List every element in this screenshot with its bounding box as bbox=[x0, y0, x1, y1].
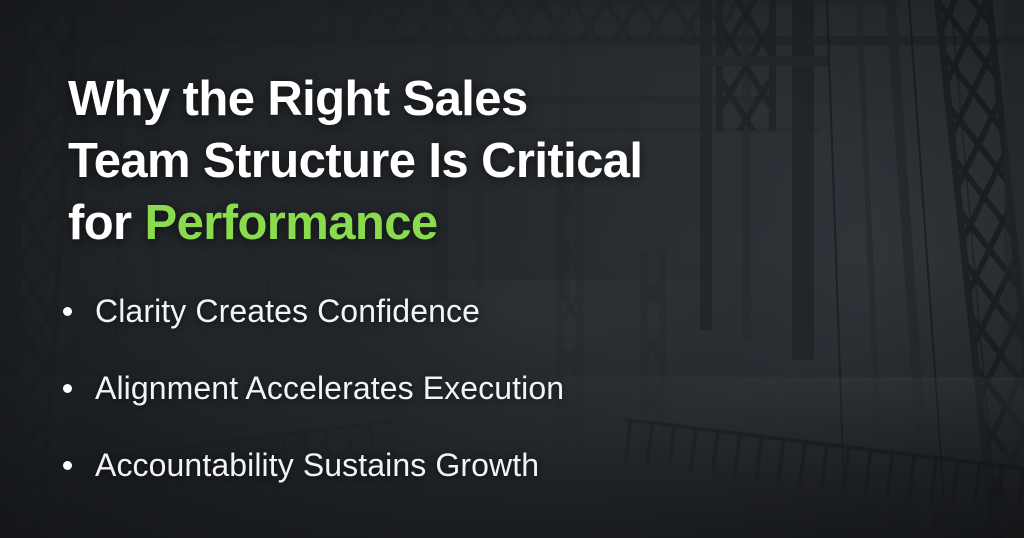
headline-line-3-plain: for bbox=[68, 196, 145, 250]
bullet-list: Clarity Creates Confidence Alignment Acc… bbox=[60, 273, 900, 504]
headline-line-1: Why the Right Sales bbox=[68, 72, 528, 126]
bullet-label: Clarity Creates Confidence bbox=[95, 293, 480, 330]
bullet-label: Alignment Accelerates Execution bbox=[95, 370, 564, 407]
list-item: Accountability Sustains Growth bbox=[60, 427, 900, 504]
bullet-label: Accountability Sustains Growth bbox=[95, 447, 539, 484]
slide-canvas: Why the Right Sales Team Structure Is Cr… bbox=[0, 0, 1024, 538]
bullet-dot-icon bbox=[63, 307, 72, 316]
list-item: Alignment Accelerates Execution bbox=[60, 350, 900, 427]
bullet-dot-icon bbox=[63, 384, 72, 393]
headline-accent-word: Performance bbox=[145, 196, 438, 250]
list-item: Clarity Creates Confidence bbox=[60, 273, 900, 350]
bullet-dot-icon bbox=[63, 461, 72, 470]
slide-content: Why the Right Sales Team Structure Is Cr… bbox=[0, 0, 1024, 538]
slide-headline: Why the Right Sales Team Structure Is Cr… bbox=[68, 68, 828, 254]
headline-line-2: Team Structure Is Critical bbox=[68, 134, 642, 188]
